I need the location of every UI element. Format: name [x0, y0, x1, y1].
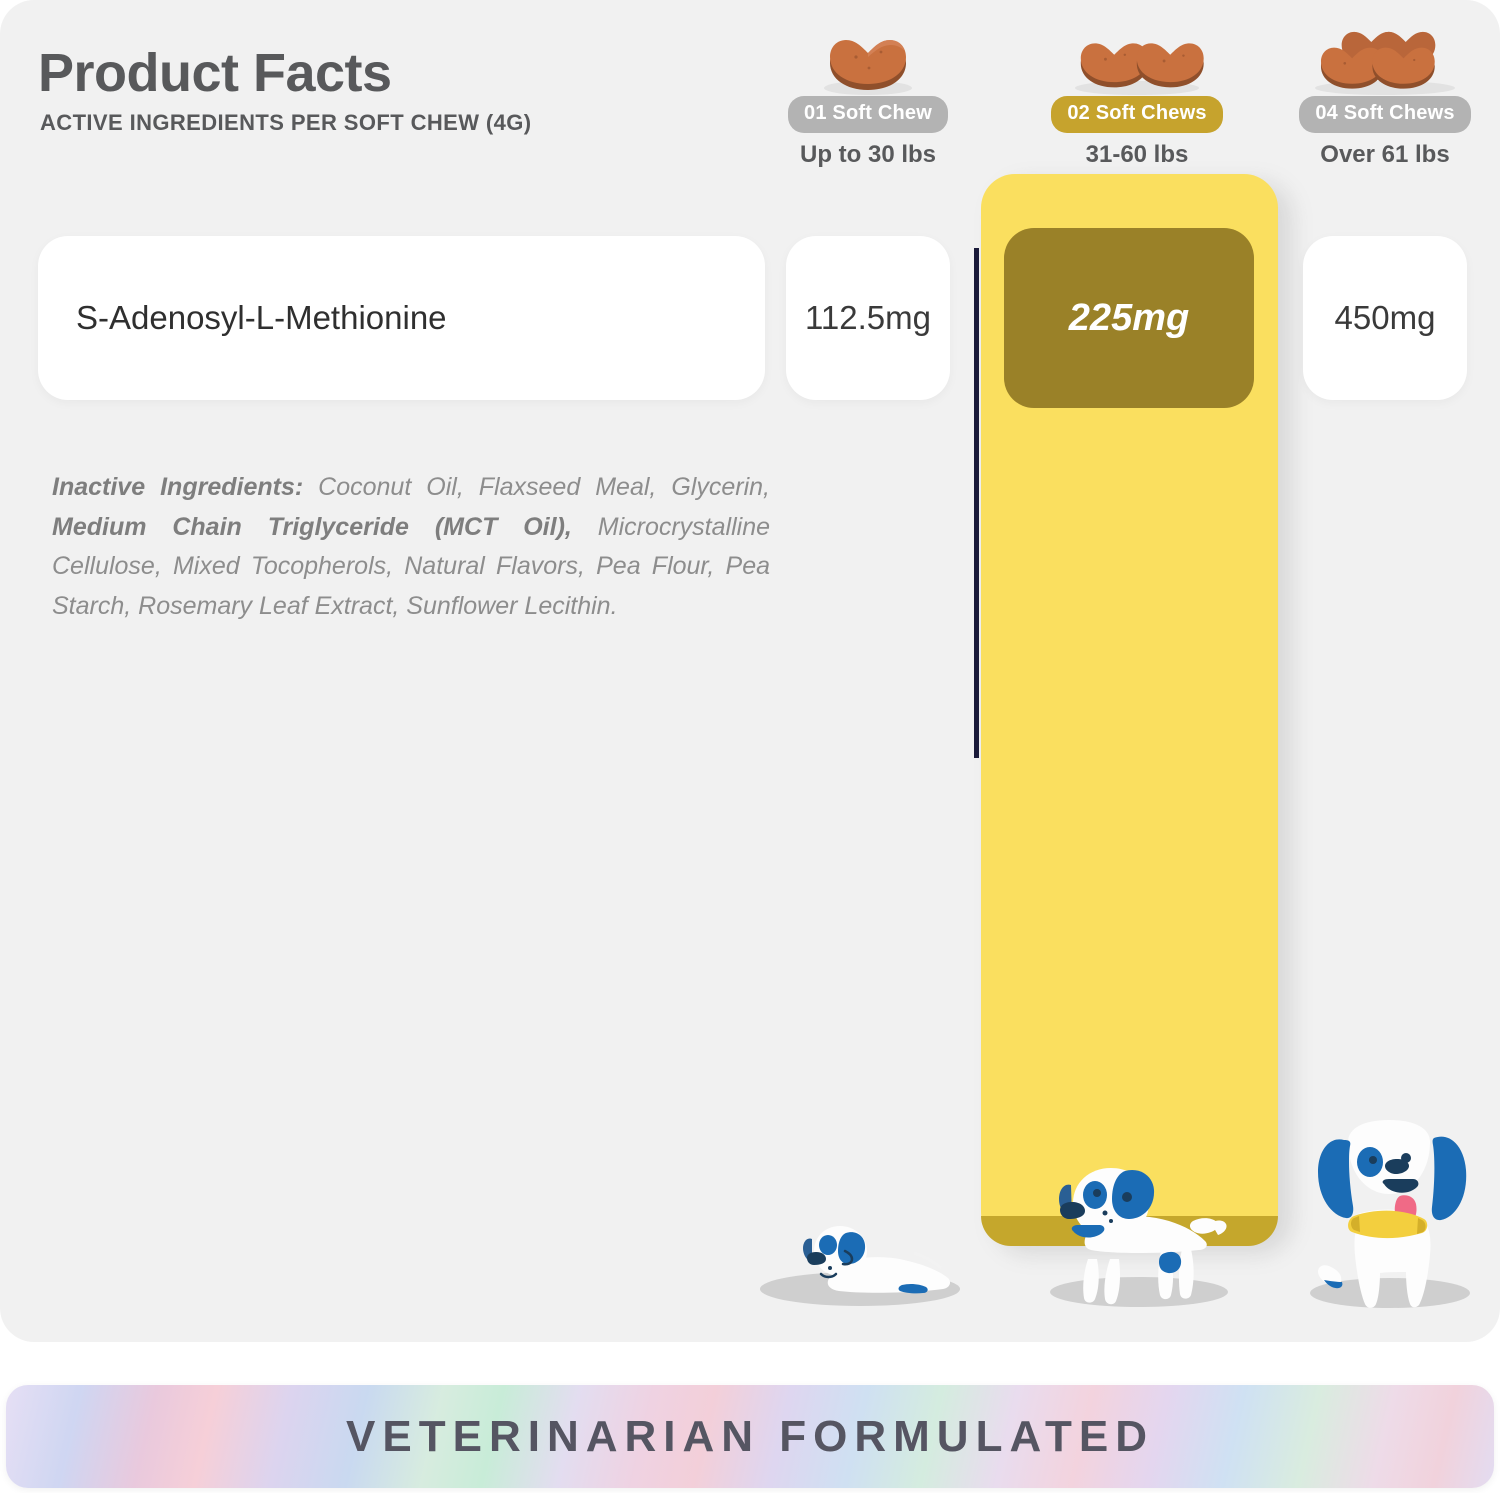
banner-text: VETERINARIAN FORMULATED	[346, 1412, 1154, 1462]
large-dog-sitting-illustration	[1300, 1118, 1478, 1308]
one-soft-chew-icon	[763, 24, 973, 96]
dosage-weight-1: Up to 30 lbs	[763, 141, 973, 169]
inactive-text-1: Coconut Oil, Flaxseed Meal, Glycerin,	[303, 473, 770, 501]
page-title: Product Facts	[38, 42, 392, 104]
dosage-badge-2: 02 Soft Chews	[1051, 96, 1222, 133]
medium-dog-walking-illustration	[1043, 1163, 1233, 1305]
main-panel: Product Facts ACTIVE INGREDIENTS PER SOF…	[0, 0, 1500, 1342]
dosage-weight-2: 31-60 lbs	[1032, 141, 1242, 169]
product-facts-infographic: Product Facts ACTIVE INGREDIENTS PER SOF…	[0, 0, 1500, 1493]
dosage-badge-3: 04 Soft Chews	[1299, 96, 1470, 133]
veterinarian-formulated-banner: VETERINARIAN FORMULATED	[6, 1385, 1494, 1488]
two-soft-chews-icon	[1032, 24, 1242, 96]
ingredient-name: S-Adenosyl-L-Methionine	[38, 299, 447, 337]
dosage-value-2: 225mg	[1004, 228, 1254, 408]
inactive-ingredients-label: Inactive Ingredients:	[52, 473, 303, 501]
dosage-weight-3: Over 61 lbs	[1280, 141, 1490, 169]
dosage-value-3: 450mg	[1303, 236, 1467, 400]
dosage-badge-1: 01 Soft Chew	[788, 96, 948, 133]
dosage-column-2: 02 Soft Chews 31-60 lbs	[1032, 24, 1242, 169]
inactive-text-bold: Medium Chain Triglyceride (MCT Oil),	[52, 513, 572, 541]
page-subtitle: ACTIVE INGREDIENTS PER SOFT CHEW (4G)	[40, 110, 532, 136]
four-soft-chews-icon	[1280, 24, 1490, 96]
dosage-value-1: 112.5mg	[786, 236, 950, 400]
dosage-column-3: 04 Soft Chews Over 61 lbs	[1280, 24, 1490, 169]
ingredient-card: S-Adenosyl-L-Methionine	[38, 236, 765, 400]
small-dog-lying-illustration	[784, 1213, 964, 1305]
highlight-column-edge-top	[974, 248, 979, 758]
dosage-column-1: 01 Soft Chew Up to 30 lbs	[763, 24, 973, 169]
inactive-ingredients: Inactive Ingredients: Coconut Oil, Flaxs…	[52, 468, 770, 626]
